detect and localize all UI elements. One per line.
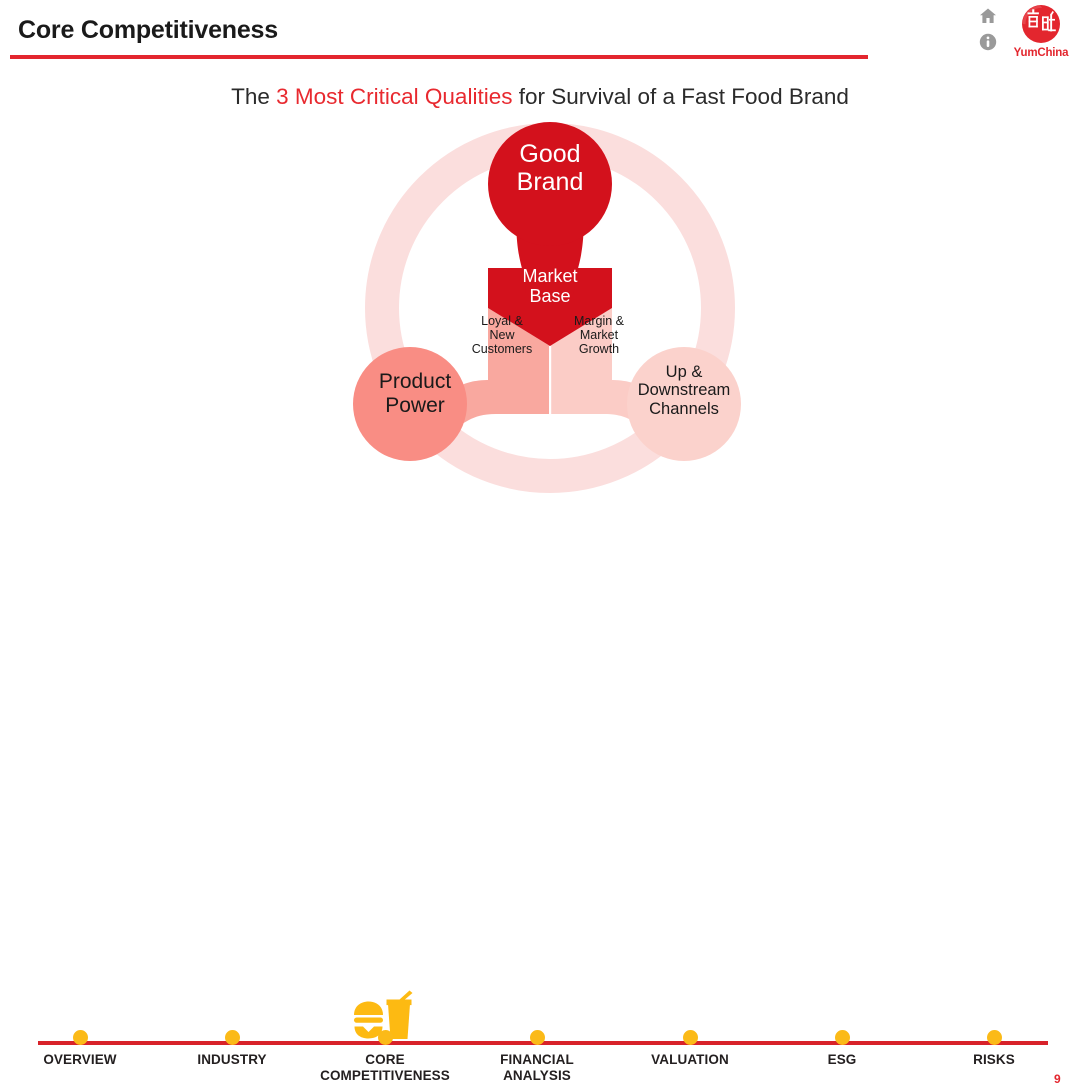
slide-header: Core Competitiveness <box>0 0 1080 62</box>
header-divider <box>10 55 868 59</box>
nav-item-label: FINANCIALANALYSIS <box>452 1052 622 1084</box>
section-navigation: OVERVIEWINDUSTRYCORECOMPETITIVENESSFINAN… <box>0 490 1080 608</box>
nav-item-label: ESG <box>757 1052 927 1068</box>
subtitle-suffix: for Survival of a Fast Food Brand <box>512 84 848 109</box>
nav-item-industry[interactable]: INDUSTRY <box>147 1030 317 1068</box>
yumchina-logo: YumChina <box>1008 4 1074 60</box>
logo-wordmark: YumChina <box>1008 47 1074 59</box>
nav-item-esg[interactable]: ESG <box>757 1030 927 1068</box>
nav-dot[interactable] <box>225 1030 240 1045</box>
page-number: 9 <box>1054 1072 1061 1086</box>
nav-item-overview[interactable]: OVERVIEW <box>0 1030 165 1068</box>
yumchina-seal-icon <box>1018 4 1064 46</box>
nav-item-valuation[interactable]: VALUATION <box>605 1030 775 1068</box>
node-channels[interactable] <box>627 347 741 461</box>
subtitle-prefix: The <box>231 84 276 109</box>
core-competitiveness-diagram: GoodBrand MarketBase Loyal &NewCustomers… <box>340 118 760 498</box>
nav-dot[interactable] <box>378 1030 393 1045</box>
info-icon[interactable] <box>978 32 998 52</box>
nav-item-label: INDUSTRY <box>147 1052 317 1068</box>
nav-dot[interactable] <box>683 1030 698 1045</box>
header-icon-group <box>978 6 1002 54</box>
nav-item-label: CORECOMPETITIVENESS <box>300 1052 470 1084</box>
nav-dot[interactable] <box>73 1030 88 1045</box>
nav-item-label: RISKS <box>909 1052 1079 1068</box>
slide-subtitle: The 3 Most Critical Qualities for Surviv… <box>0 84 1080 110</box>
page-title: Core Competitiveness <box>18 16 278 45</box>
home-icon[interactable] <box>978 6 998 26</box>
nav-item-risks[interactable]: RISKS <box>909 1030 1079 1068</box>
node-good-brand[interactable] <box>488 122 612 246</box>
nav-item-core-competitiveness[interactable]: CORECOMPETITIVENESS <box>300 1030 470 1084</box>
nav-dot[interactable] <box>987 1030 1002 1045</box>
nav-dot[interactable] <box>530 1030 545 1045</box>
nav-item-label: OVERVIEW <box>0 1052 165 1068</box>
subtitle-highlight: 3 Most Critical Qualities <box>276 84 512 109</box>
nav-item-financial-analysis[interactable]: FINANCIALANALYSIS <box>452 1030 622 1084</box>
nav-dot[interactable] <box>835 1030 850 1045</box>
nav-item-label: VALUATION <box>605 1052 775 1068</box>
